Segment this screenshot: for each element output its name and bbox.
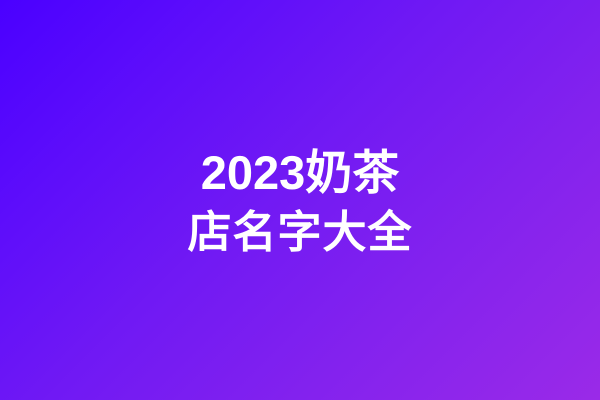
banner-title-line-1: 2023奶茶 <box>0 148 600 198</box>
banner-title-line-2: 店名字大全 <box>0 208 600 258</box>
banner-title-block: 2023奶茶 店名字大全 <box>0 148 600 258</box>
promo-banner: 2023奶茶 店名字大全 <box>0 0 600 400</box>
